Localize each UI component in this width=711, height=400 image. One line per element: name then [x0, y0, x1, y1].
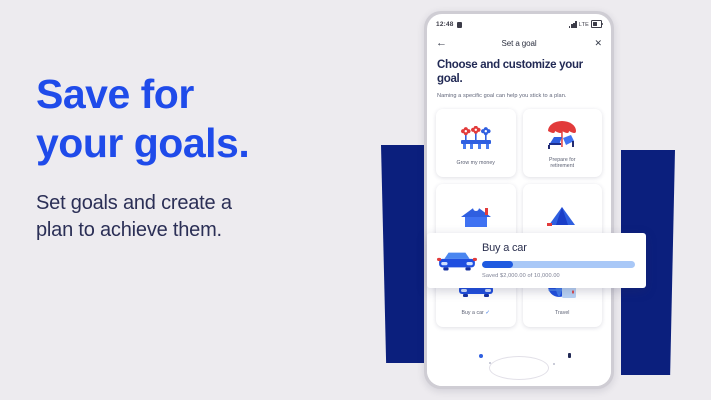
status-bar: 12:48 LTE: [427, 14, 611, 32]
goal-progress-title: Buy a car: [482, 242, 635, 254]
goal-label: Buy a car ✓: [461, 310, 490, 317]
page-title: Save for your goals.: [36, 70, 366, 168]
flowers-coins-icon: [459, 120, 493, 156]
goal-label: Travel: [555, 310, 570, 317]
progress-bar-fill: [482, 261, 513, 268]
subhead-line-2: plan to achieve them.: [36, 217, 366, 244]
page-subtitle: Set goals and create a plan to achieve t…: [36, 190, 366, 244]
goal-label: Prepare for retirement: [549, 157, 576, 170]
decorative-dot: [479, 354, 483, 358]
status-time: 12:48: [436, 21, 454, 28]
decorative-dot: [568, 353, 571, 358]
goal-label-line-1: Prepare for: [549, 157, 576, 163]
goal-progress-card[interactable]: Buy a car Saved $2,000.00 of 10,000.00: [427, 233, 646, 288]
decorative-arc: [489, 356, 549, 380]
goal-progress-body: Buy a car Saved $2,000.00 of 10,000.00: [478, 242, 635, 279]
goal-label: Grow my money: [457, 160, 495, 167]
goal-card-grow-my-money[interactable]: Grow my money: [436, 109, 516, 177]
marketing-copy: Save for your goals. Set goals and creat…: [36, 70, 366, 244]
status-indicators: LTE: [569, 20, 602, 28]
alarm-icon: [457, 22, 462, 28]
phone-mockup: 12:48 LTE ← Set a goal ✕ Choose and cust…: [424, 11, 614, 389]
goal-progress-meta: Saved $2,000.00 of 10,000.00: [482, 273, 635, 279]
decorative-dot: [489, 362, 491, 364]
app-description: Naming a specific goal can help you stic…: [427, 86, 611, 100]
app-heading: Choose and customize your goal.: [427, 54, 611, 86]
app-heading-line-1: Choose and customize your: [437, 59, 583, 71]
subhead-line-1: Set goals and create a: [36, 190, 366, 217]
umbrella-lounger-icon: [546, 117, 578, 153]
headline-line-2: your goals.: [36, 119, 366, 168]
decorative-dot: [553, 363, 555, 365]
phone-screen: 12:48 LTE ← Set a goal ✕ Choose and cust…: [427, 14, 611, 386]
network-label: LTE: [579, 22, 589, 28]
app-title: Set a goal: [427, 39, 611, 48]
signal-bars-icon: [569, 21, 577, 28]
goal-label-text: Buy a car: [461, 310, 483, 316]
headline-line-1: Save for: [36, 70, 366, 119]
tent-icon: [545, 198, 579, 234]
car-icon: [436, 249, 478, 273]
promo-screenshot: Save for your goals. Set goals and creat…: [0, 0, 711, 400]
goal-label-line-2: retirement: [550, 163, 574, 169]
app-header: ← Set a goal ✕: [427, 32, 611, 54]
goal-card-prepare-for-retirement[interactable]: Prepare for retirement: [523, 109, 603, 177]
battery-icon: [591, 20, 602, 28]
check-icon: ✓: [485, 310, 490, 316]
progress-bar: [482, 261, 635, 268]
app-heading-line-2: goal.: [437, 73, 462, 85]
goal-grid: Grow my money: [427, 109, 611, 327]
house-icon: [459, 198, 493, 234]
